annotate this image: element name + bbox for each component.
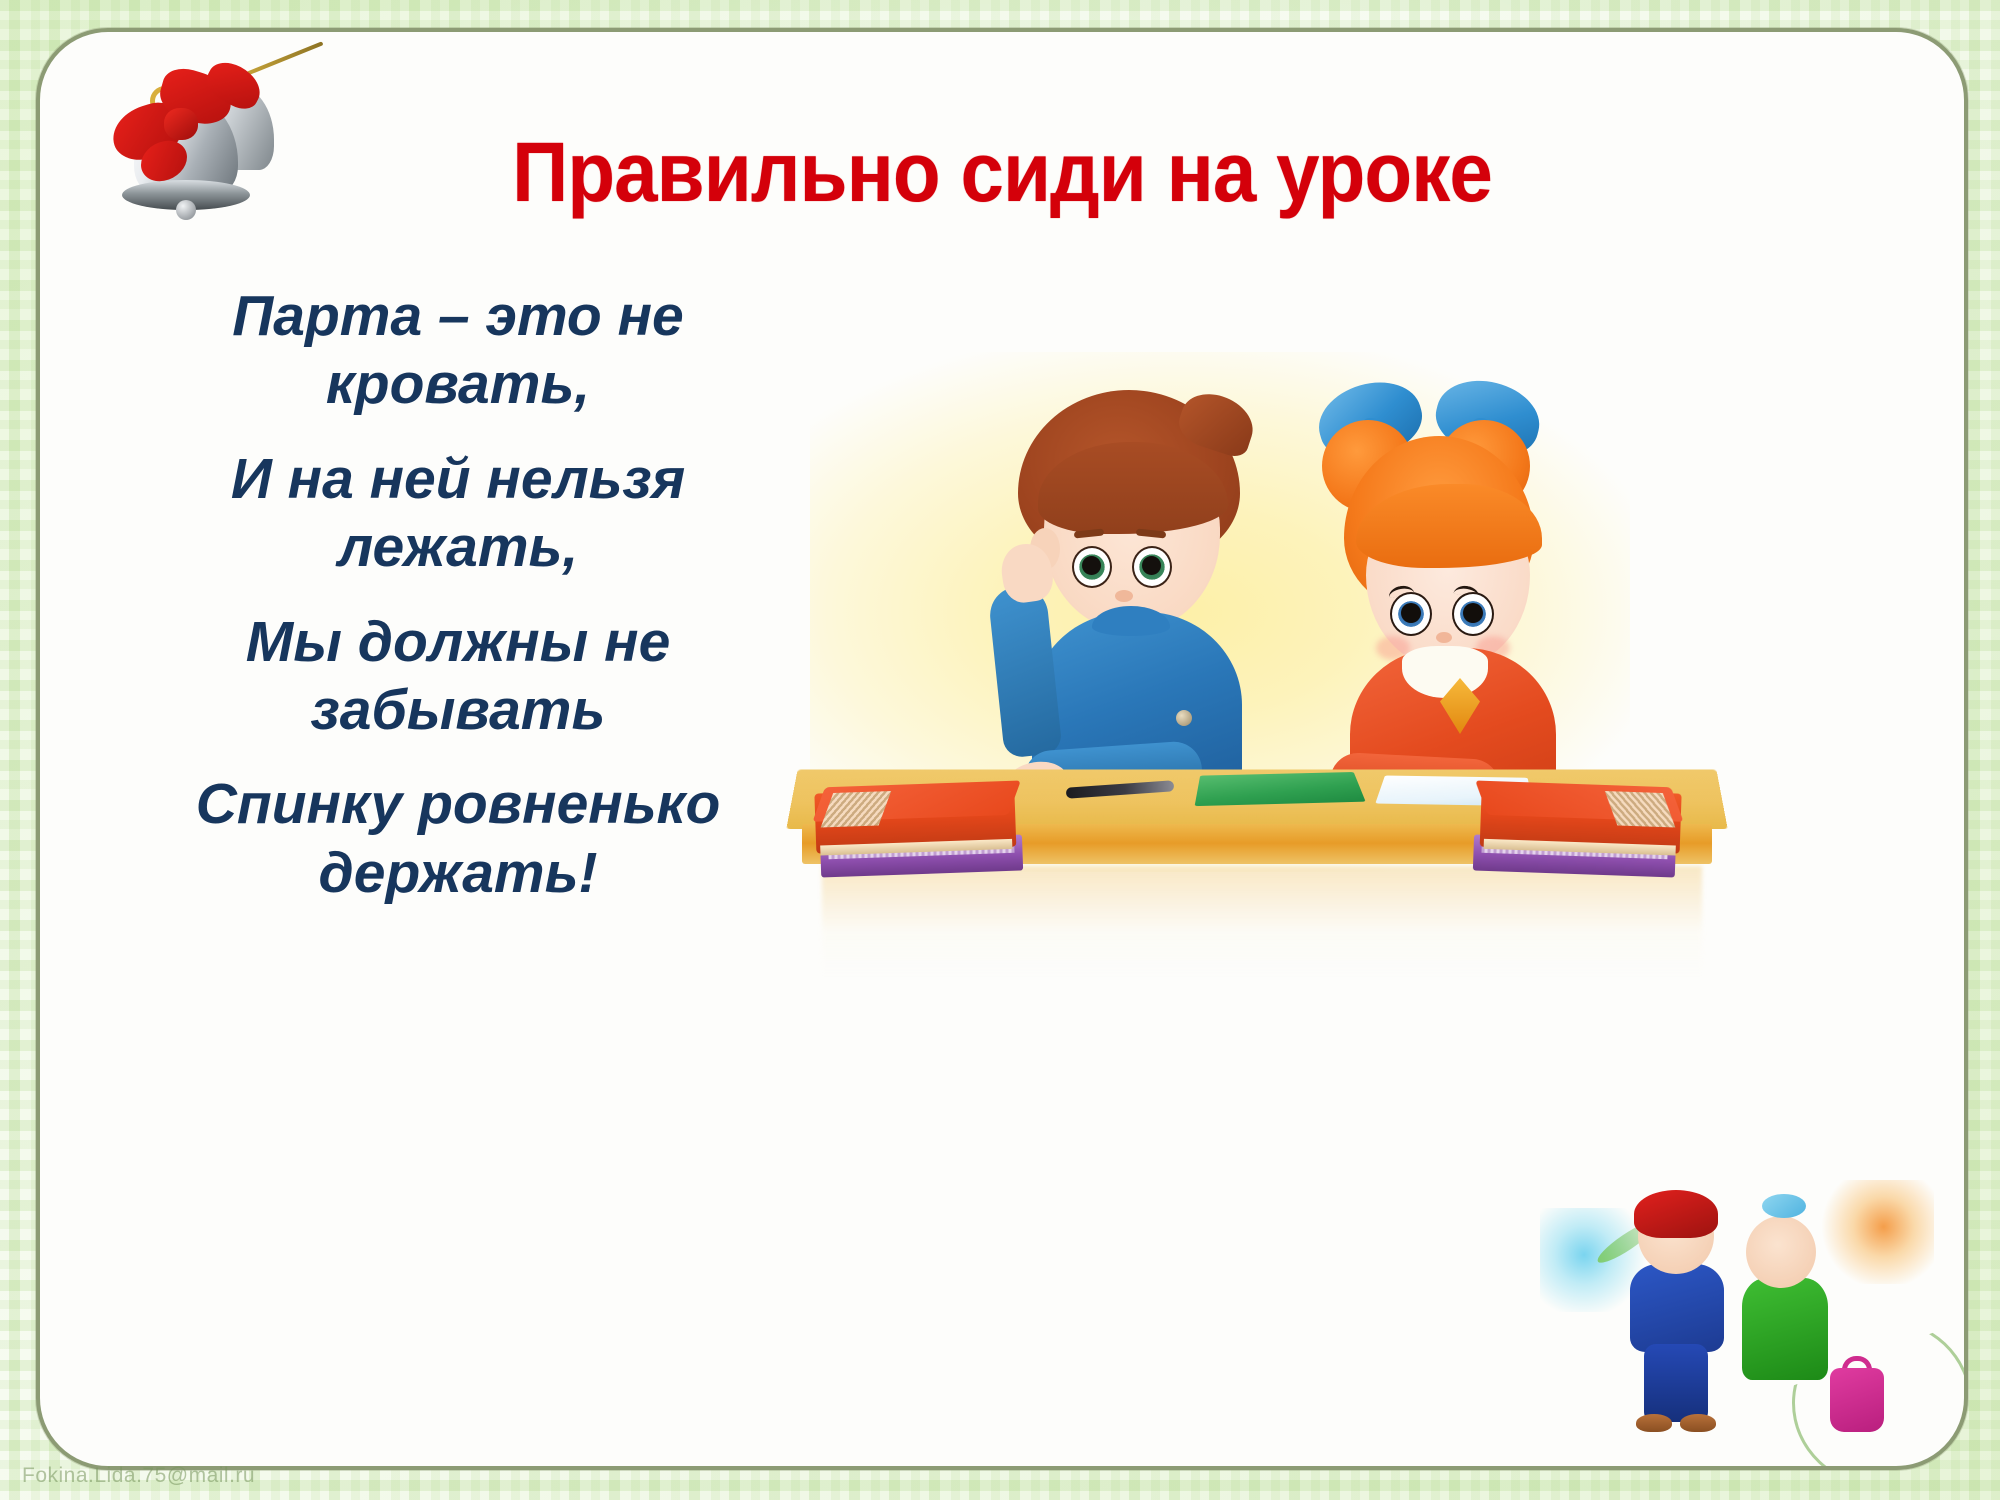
poem-line: кровать, (158, 350, 758, 418)
poem-line: держать! (158, 839, 758, 907)
poem-line: лежать, (158, 513, 758, 581)
schoolchildren-drawing-icon (1530, 1172, 1930, 1442)
green-notebook (1195, 772, 1366, 806)
poem-line: Мы должны не (158, 608, 758, 676)
boy-sweater-button (1176, 710, 1192, 726)
slide-card: Правильно сиди на уроке Парта – это не к… (36, 28, 1968, 1470)
drawing-boy-hair (1634, 1190, 1718, 1238)
girl-pupil-left (1401, 603, 1421, 623)
drawing-boy-body (1630, 1264, 1724, 1352)
drawing-girl-head (1746, 1216, 1816, 1288)
poem-line: Парта – это не (158, 282, 758, 350)
book-stack-right (1468, 780, 1682, 897)
drawing-girl-bow (1762, 1194, 1806, 1218)
drawing-boy-shoe-right (1680, 1414, 1716, 1432)
ribbon-knot (164, 108, 198, 140)
poem-line: забывать (158, 676, 758, 744)
boy-pupil-left (1082, 556, 1101, 575)
girl-pupil-right (1463, 603, 1483, 623)
pupils-at-desk-illustration (770, 332, 1950, 1112)
poem-line: И на ней нельзя (158, 445, 758, 513)
girl-pupil-figure (1290, 378, 1620, 818)
poem-block: Парта – это не кровать, И на ней нельзя … (158, 282, 758, 907)
school-bell-icon (88, 50, 268, 230)
drawing-boy-shoe-left (1636, 1414, 1672, 1432)
boy-pupil-figure (980, 390, 1310, 820)
bell-clapper (176, 200, 196, 220)
boy-nose (1115, 590, 1133, 602)
bell-stem (239, 41, 324, 78)
page-title: Правильно сиди на уроке (107, 130, 1896, 214)
boy-pupil-right (1142, 556, 1161, 575)
book-stack-left (814, 780, 1028, 897)
poem-line: Спинку ровненько (158, 770, 758, 838)
drawing-boy-legs (1644, 1344, 1708, 1422)
girl-nose (1436, 632, 1452, 643)
watermark-text: Fokina.Lida.75@mail.ru (22, 1464, 255, 1488)
drawing-girl-body (1742, 1278, 1828, 1380)
orange-flower-icon (1822, 1180, 1934, 1284)
boy-arm-raised (987, 583, 1062, 758)
